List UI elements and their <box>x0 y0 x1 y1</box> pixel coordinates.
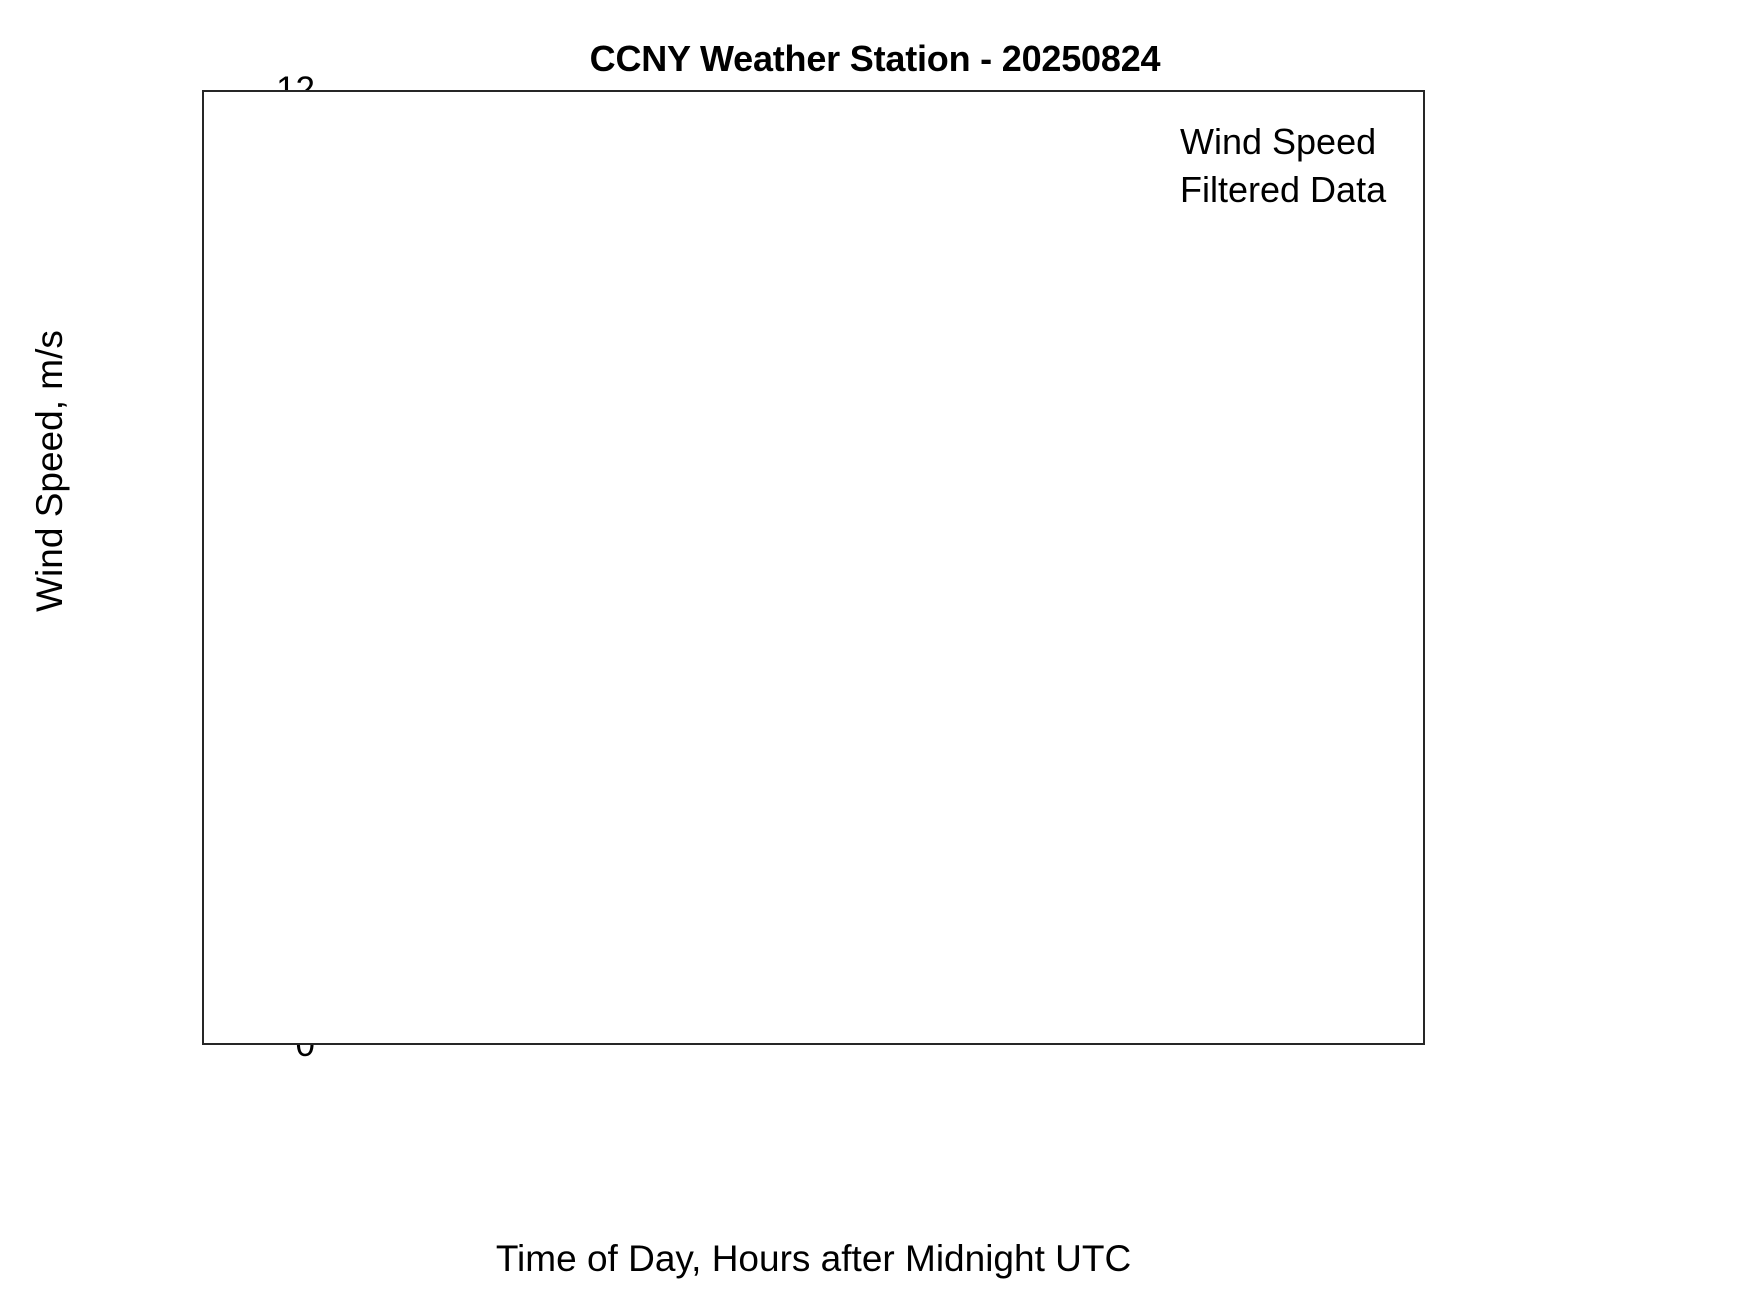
legend-label-wind-speed: Wind Speed <box>1180 121 1376 163</box>
chart-figure: CCNY Weather Station - 20250824 02468101… <box>0 0 1750 1313</box>
legend-swatch-filtered-data <box>1040 186 1165 195</box>
chart-legend: Wind Speed Filtered Data <box>1040 118 1405 214</box>
y-axis-label: Wind Speed, m/s <box>29 91 71 851</box>
legend-item-filtered-data[interactable]: Filtered Data <box>1040 166 1405 214</box>
data-series-layer <box>204 92 1423 1043</box>
legend-swatch-wind-speed <box>1040 141 1165 144</box>
legend-label-filtered-data: Filtered Data <box>1180 169 1386 211</box>
x-axis-label: Time of Day, Hours after Midnight UTC <box>202 1238 1425 1280</box>
legend-item-wind-speed[interactable]: Wind Speed <box>1040 118 1405 166</box>
plot-area <box>202 90 1425 1045</box>
